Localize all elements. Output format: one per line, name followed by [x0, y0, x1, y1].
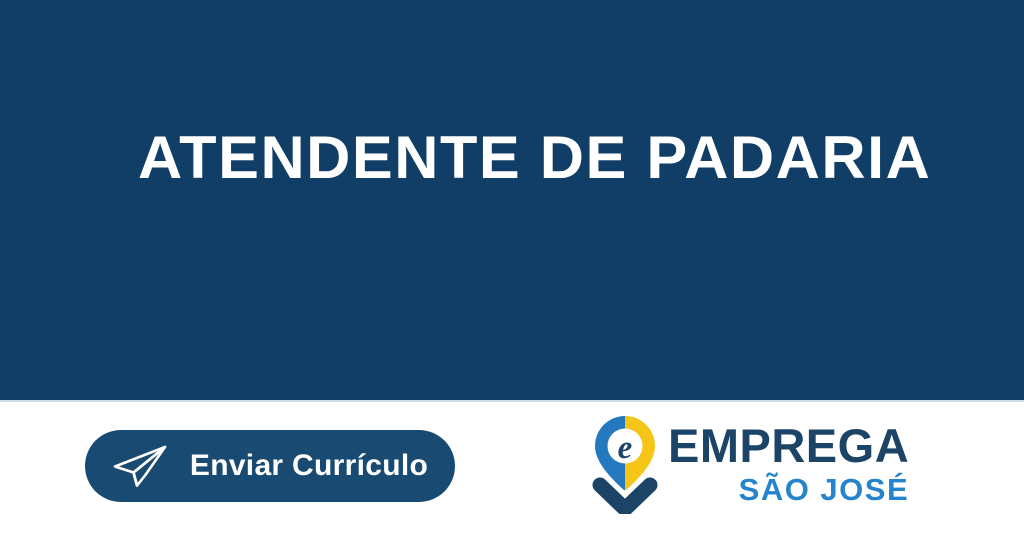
paper-plane-send-icon — [112, 444, 168, 488]
send-resume-button-label: Enviar Currículo — [190, 449, 428, 483]
logo-brand-name: EMPREGA — [668, 422, 909, 470]
map-pin-location-icon: e — [592, 414, 658, 514]
page-title: ATENDENTE DE PADARIA — [138, 122, 954, 194]
brand-logo[interactable]: e EMPREGA SÃO JOSÉ — [592, 414, 922, 522]
logo-wordmark: EMPREGA SÃO JOSÉ — [668, 414, 909, 508]
svg-text:e: e — [618, 430, 633, 466]
hero-banner: ATENDENTE DE PADARIA — [0, 0, 1024, 402]
job-vacancy-card: ATENDENTE DE PADARIA Enviar Currículo — [0, 0, 1024, 536]
send-resume-button[interactable]: Enviar Currículo — [85, 430, 455, 502]
logo-city-name: SÃO JOSÉ — [739, 472, 910, 508]
